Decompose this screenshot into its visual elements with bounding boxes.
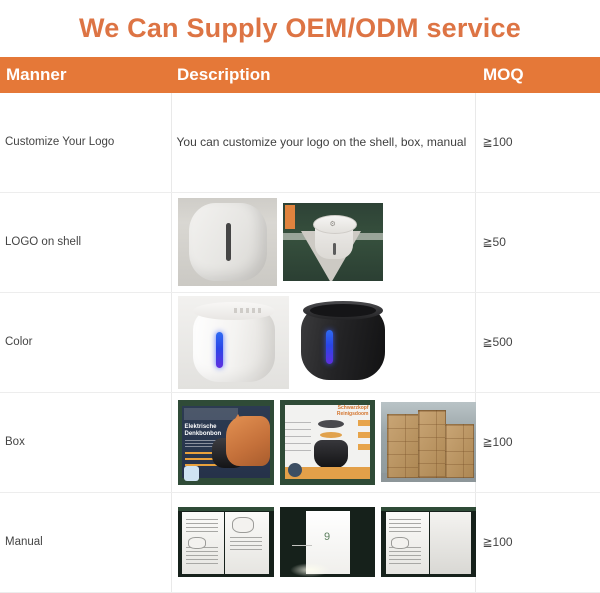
cell-manner: Manual xyxy=(0,492,171,592)
image-strip xyxy=(176,293,467,392)
shell-logo-mark xyxy=(226,223,231,261)
manual-open-spread-photo xyxy=(178,507,274,577)
carton-stack xyxy=(418,410,446,478)
page-title: We Can Supply OEM/ODM service xyxy=(79,13,521,44)
lid-logo-mark: ⚙ xyxy=(330,220,336,228)
retail-box-with-cat-photo: Elektrische Denkbonbon xyxy=(178,400,274,485)
device-vent xyxy=(234,308,264,313)
exploded-part-filter xyxy=(320,432,342,438)
column-header-description: Description xyxy=(171,57,475,93)
cell-manner: LOGO on shell xyxy=(0,192,171,292)
carton-stack xyxy=(387,414,419,478)
photo-corner-accent xyxy=(285,205,295,229)
product-black-color-photo xyxy=(295,296,391,389)
image-strip: 9 xyxy=(176,493,467,592)
column-header-moq: MOQ xyxy=(475,57,600,93)
cell-moq: ≧100 xyxy=(475,492,600,592)
manual-page-number: 9 xyxy=(280,531,375,543)
oem-odm-table: Manner Description MOQ Customize Your Lo… xyxy=(0,57,600,593)
manual-text-block xyxy=(186,519,218,535)
manual-caption-lines xyxy=(292,545,312,548)
carton-stack xyxy=(445,424,474,478)
table-row: Box Elektrische Denkbonbon xyxy=(0,392,600,492)
manual-text-block xyxy=(230,537,262,551)
manual-figure xyxy=(391,537,409,549)
manual-cover-page-photo: 9 xyxy=(280,507,375,577)
product-shell-angle-photo: ⚙ xyxy=(283,203,383,281)
cell-description-media: 9 xyxy=(171,492,475,592)
table-row: Manual xyxy=(0,492,600,592)
cat-photo xyxy=(226,416,270,466)
table-body: Customize Your Logo You can customize yo… xyxy=(0,93,600,592)
device-top-rim xyxy=(310,304,376,317)
manual-photo-top-edge xyxy=(381,507,476,511)
box-seal-badge xyxy=(288,463,302,477)
retail-box-with-diagram-photo: Schwarzkopf Reinigsdoom xyxy=(280,400,375,485)
device-led-strip xyxy=(216,332,223,368)
cell-description-media: ⚙ xyxy=(171,192,475,292)
manual-photo-top-edge xyxy=(178,507,274,511)
table-header-row: Manner Description MOQ xyxy=(0,57,600,93)
oem-odm-service-page: We Can Supply OEM/ODM service Manner Des… xyxy=(0,0,600,554)
warehouse-cartons-photo xyxy=(381,402,476,482)
box-title-text: Schwarzkopf Reinigsdoom xyxy=(327,405,369,417)
box-title-text: Elektrische Denkbonbon xyxy=(185,424,231,438)
cell-manner: Box xyxy=(0,392,171,492)
manual-text-block xyxy=(186,547,218,565)
box-badge xyxy=(184,466,199,481)
box-feature-icons xyxy=(358,420,370,454)
cell-moq: ≧500 xyxy=(475,292,600,392)
cell-description-media xyxy=(171,292,475,392)
image-strip: ⚙ xyxy=(176,193,467,292)
product-white-color-photo xyxy=(178,296,289,389)
box-spec-lines xyxy=(285,422,311,452)
table-row: LOGO on shell ⚙ xyxy=(0,192,600,292)
cell-moq: ≧100 xyxy=(475,392,600,492)
device-led-strip xyxy=(326,330,333,364)
box-header-strip xyxy=(184,408,238,420)
cell-moq: ≧100 xyxy=(475,93,600,192)
manual-text-block xyxy=(389,519,421,535)
column-header-manner: Manner xyxy=(0,57,171,93)
cell-description-media: Elektrische Denkbonbon Schwarzkopf Reini… xyxy=(171,392,475,492)
product-shell-front-photo xyxy=(178,198,277,286)
manual-figure xyxy=(232,517,254,533)
page-title-bar: We Can Supply OEM/ODM service xyxy=(0,0,600,57)
table-row: Color xyxy=(0,292,600,392)
cell-manner: Color xyxy=(0,292,171,392)
manual-open-page-photo xyxy=(381,507,476,577)
cell-moq: ≧50 xyxy=(475,192,600,292)
exploded-part-top xyxy=(318,420,344,428)
image-strip: Elektrische Denkbonbon Schwarzkopf Reini… xyxy=(176,393,467,492)
description-text: You can customize your logo on the shell… xyxy=(176,135,467,150)
table-header: Manner Description MOQ xyxy=(0,57,600,93)
photo-light-glow xyxy=(290,563,330,577)
device-led-strip xyxy=(333,243,336,255)
box-product-image xyxy=(314,440,348,468)
manual-figure xyxy=(188,537,206,549)
cell-description: You can customize your logo on the shell… xyxy=(171,93,475,192)
manual-right-page xyxy=(430,512,471,574)
cell-manner: Customize Your Logo xyxy=(0,93,171,192)
table-row: Customize Your Logo You can customize yo… xyxy=(0,93,600,192)
manual-text-block xyxy=(389,547,421,565)
